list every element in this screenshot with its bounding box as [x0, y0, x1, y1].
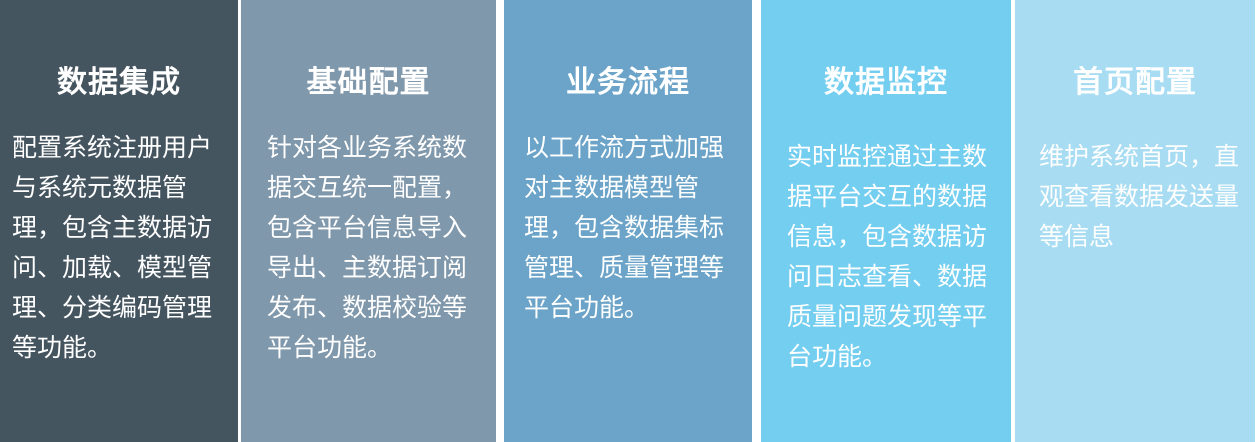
panel-body-data-monitoring: 实时监控通过主数据平台交互的数据信息，包含数据访问日志查看、数据质量问题发现等平… [761, 137, 1011, 377]
panel-body-homepage-configuration: 维护系统首页，直观查看数据发送量等信息 [1015, 137, 1255, 257]
panel-homepage-configuration[interactable]: 首页配置 维护系统首页，直观查看数据发送量等信息 [1015, 0, 1255, 442]
panel-body-business-process: 以工作流方式加强对主数据模型管理，包含数据集标管理、质量管理等平台功能。 [504, 128, 752, 328]
panel-title-homepage-configuration: 首页配置 [1073, 66, 1197, 99]
panel-business-process[interactable]: 业务流程 以工作流方式加强对主数据模型管理，包含数据集标管理、质量管理等平台功能… [504, 0, 752, 442]
panel-body-basic-configuration: 针对各业务系统数据交互统一配置，包含平台信息导入导出、主数据订阅发布、数据校验等… [241, 128, 496, 368]
panel-data-integration[interactable]: 数据集成 配置系统注册用户与系统元数据管理，包含主数据访问、加载、模型管理、分类… [0, 0, 238, 442]
panel-data-monitoring[interactable]: 数据监控 实时监控通过主数据平台交互的数据信息，包含数据访问日志查看、数据质量问… [761, 0, 1011, 442]
panel-title-business-process: 业务流程 [566, 66, 690, 99]
panel-title-basic-configuration: 基础配置 [307, 66, 431, 99]
panel-title-data-monitoring: 数据监控 [824, 66, 948, 99]
panel-title-data-integration: 数据集成 [57, 66, 181, 99]
panel-body-data-integration: 配置系统注册用户与系统元数据管理，包含主数据访问、加载、模型管理、分类编码管理等… [0, 128, 238, 368]
panel-basic-configuration[interactable]: 基础配置 针对各业务系统数据交互统一配置，包含平台信息导入导出、主数据订阅发布、… [241, 0, 496, 442]
feature-panels-container: 数据集成 配置系统注册用户与系统元数据管理，包含主数据访问、加载、模型管理、分类… [0, 0, 1257, 442]
